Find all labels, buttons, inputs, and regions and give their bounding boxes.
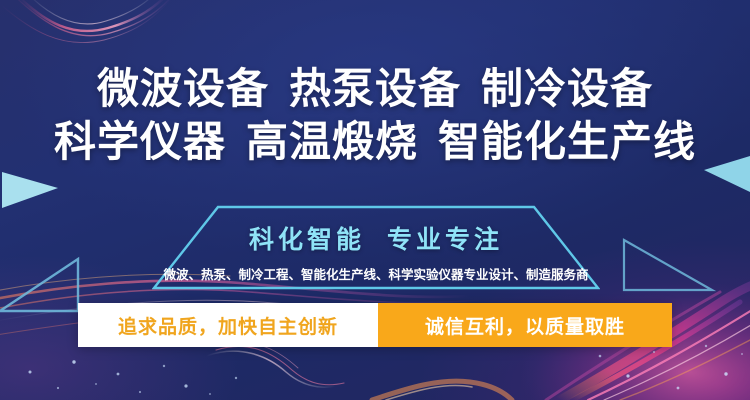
ribbon-quality: 追求品质，加快自主创新 [78, 303, 378, 347]
headline-line-2: 科学仪器高温煅烧智能化生产线 [0, 115, 750, 168]
headline-part-3: 制冷设备 [481, 64, 653, 113]
headline-block: 微波设备热泵设备制冷设备 科学仪器高温煅烧智能化生产线 [0, 62, 750, 168]
slogan-frame: 科化智能专业专注 微波、热泵、制冷工程、智能化生产线、科学实验仪器专业设计、制造… [152, 205, 600, 290]
promo-banner: 微波设备热泵设备制冷设备 科学仪器高温煅烧智能化生产线 科化智能专业专注 微波、… [0, 0, 750, 400]
slogan-part-2: 专业专注 [387, 225, 503, 254]
ribbon-integrity: 诚信互利，以质量取胜 [378, 303, 672, 347]
headline-line-1: 微波设备热泵设备制冷设备 [0, 62, 750, 115]
headline-part-6: 智能化生产线 [438, 117, 696, 166]
headline-part-4: 科学仪器 [54, 117, 226, 166]
triangle-outline-left-icon [0, 255, 80, 315]
headline-part-1: 微波设备 [97, 64, 269, 113]
triangle-left-icon [2, 172, 58, 208]
headline-part-2: 热泵设备 [289, 64, 461, 113]
slogan-part-1: 科化智能 [249, 225, 365, 254]
headline-part-5: 高温煅烧 [246, 117, 418, 166]
slogan-text: 科化智能专业专注 [249, 220, 503, 256]
ribbon-group: 追求品质，加快自主创新 诚信互利，以质量取胜 [78, 303, 672, 347]
triangle-outline-right-icon [620, 232, 716, 294]
slogan-subline: 微波、热泵、制冷工程、智能化生产线、科学实验仪器专业设计、制造服务商 [163, 264, 588, 283]
